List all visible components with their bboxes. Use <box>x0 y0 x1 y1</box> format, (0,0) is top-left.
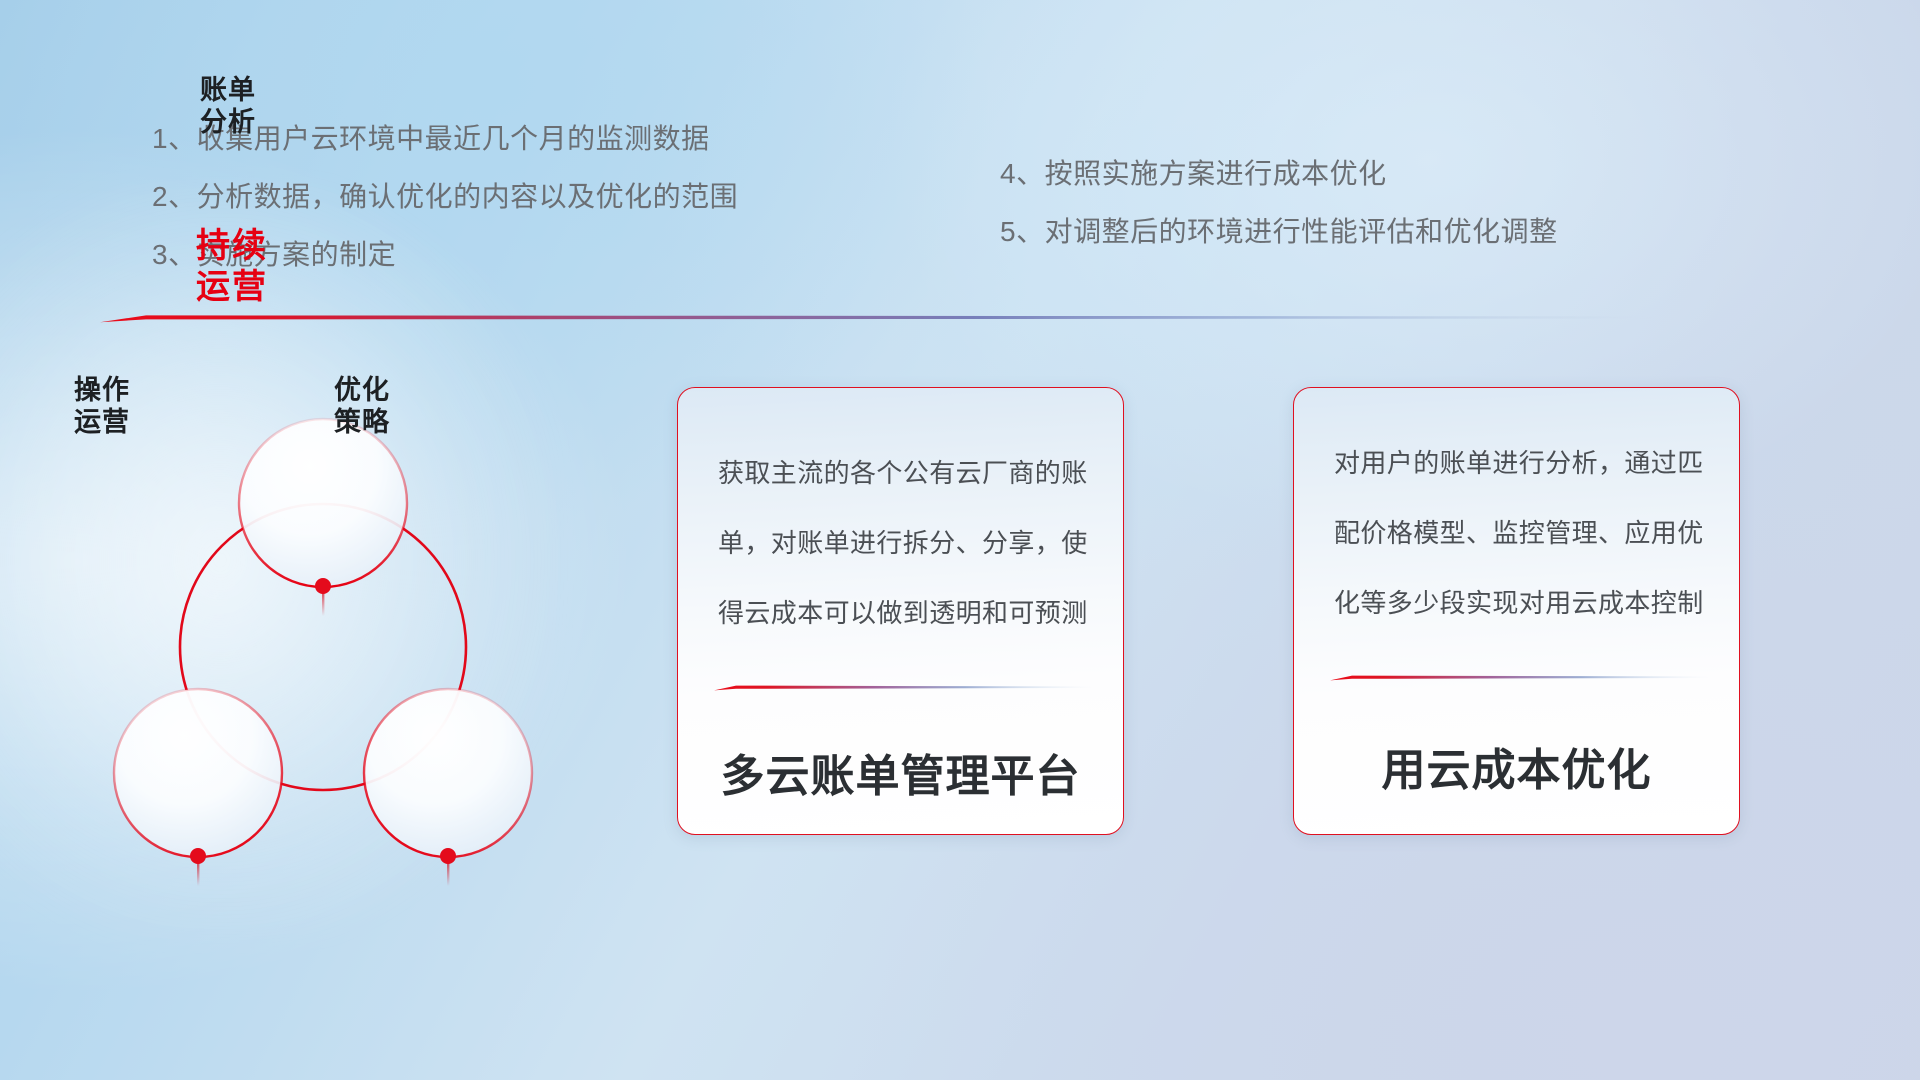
section-divider <box>100 313 1660 323</box>
card-2-title: 用云成本优化 <box>1294 734 1739 798</box>
venn-node-bill-analysis[interactable] <box>239 419 407 587</box>
card-1-body-line-3: 得云成本可以做到透明和可预测 <box>718 600 1087 626</box>
card-1-title: 多云账单管理平台 <box>678 740 1123 804</box>
steps-right-column: 4、按照实施方案进行成本优化 5、对调整后的环境进行性能评估和优化调整 <box>1000 160 1558 276</box>
card-1-divider <box>714 684 1094 691</box>
step-item-1: 1、收集用户云环境中最近几个月的监测数据 <box>152 125 738 153</box>
step-item-2: 2、分析数据，确认优化的内容以及优化的范围 <box>152 183 738 211</box>
card-2-divider <box>1330 674 1710 681</box>
card-multi-cloud-billing-platform[interactable]: 获取主流的各个公有云厂商的账 单，对账单进行拆分、分享，使 得云成本可以做到透明… <box>677 387 1124 835</box>
step-item-5: 5、对调整后的环境进行性能评估和优化调整 <box>1000 218 1558 246</box>
venn-node-operations[interactable] <box>114 689 282 857</box>
venn-node-optimization-strategy[interactable] <box>364 689 532 857</box>
card-cloud-cost-optimization[interactable]: 对用户的账单进行分析，通过匹 配价格模型、监控管理、应用优 化等多少段实现对用云… <box>1293 387 1740 835</box>
slide-canvas: 1、收集用户云环境中最近几个月的监测数据 2、分析数据，确认优化的内容以及优化的… <box>0 0 1920 1080</box>
card-1-body-line-2: 单，对账单进行拆分、分享，使 <box>718 530 1087 556</box>
card-1-body-line-1: 获取主流的各个公有云厂商的账 <box>718 460 1087 486</box>
continuous-operations-diagram <box>95 345 655 945</box>
step-item-4: 4、按照实施方案进行成本优化 <box>1000 160 1558 188</box>
card-2-body-line-3: 化等多少段实现对用云成本控制 <box>1334 590 1703 616</box>
card-2-body-line-2: 配价格模型、监控管理、应用优 <box>1334 520 1703 546</box>
card-2-body-line-1: 对用户的账单进行分析，通过匹 <box>1334 450 1703 476</box>
junction-dot-right <box>440 848 456 864</box>
card-2-body: 对用户的账单进行分析，通过匹 配价格模型、监控管理、应用优 化等多少段实现对用云… <box>1334 450 1703 660</box>
step-item-3: 3、实施方案的制定 <box>152 241 738 269</box>
card-1-body: 获取主流的各个公有云厂商的账 单，对账单进行拆分、分享，使 得云成本可以做到透明… <box>718 460 1087 670</box>
steps-left-column: 1、收集用户云环境中最近几个月的监测数据 2、分析数据，确认优化的内容以及优化的… <box>152 125 738 299</box>
junction-dot-left <box>190 848 206 864</box>
junction-dot-top <box>315 578 331 594</box>
